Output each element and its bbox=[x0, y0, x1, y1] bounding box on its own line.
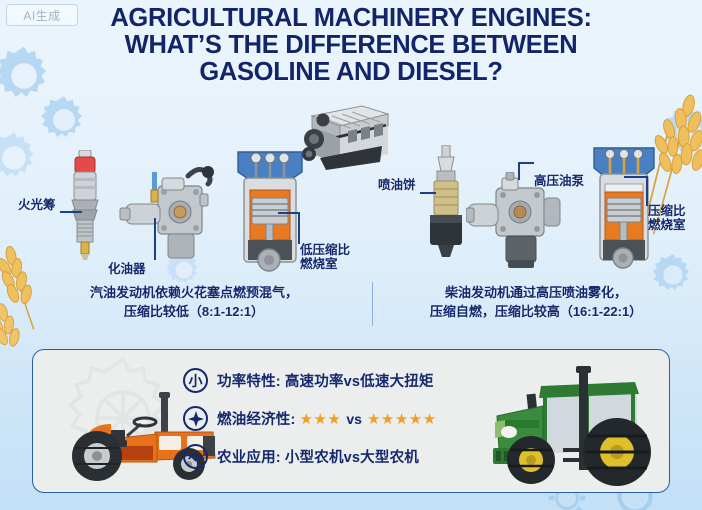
leader-line bbox=[154, 218, 156, 260]
leader-line bbox=[646, 176, 648, 206]
engine-block-illustration bbox=[292, 96, 404, 174]
callout-carburetor: 化油器 bbox=[108, 262, 146, 276]
fuel-injector-illustration bbox=[424, 145, 468, 265]
gasoline-description: 汽油发动机依赖火花塞点燃预混气， 压缩比较低（8:1-12:1） bbox=[24, 283, 364, 321]
carburetor-illustration bbox=[118, 160, 222, 270]
row-value-application: 小型农机vs大型农机 bbox=[285, 446, 419, 467]
callout-injector: 喷油饼 bbox=[378, 178, 416, 192]
diesel-description-line2: 压缩自燃，压缩比较高（16:1-22:1） bbox=[378, 302, 694, 321]
gear-icon bbox=[660, 104, 702, 162]
gear-icon bbox=[38, 94, 90, 146]
stars-diesel: ★★★★★ bbox=[367, 410, 437, 428]
callout-high-pressure-pump: 高压油泵 bbox=[534, 174, 584, 188]
row-value-power: 高速功率vs低速大扭矩 bbox=[285, 370, 434, 391]
callout-spark-plug: 火光筹 bbox=[18, 198, 56, 212]
spark-burst-icon-glyph bbox=[188, 411, 204, 427]
leader-line bbox=[420, 192, 436, 194]
comparison-rows: 小 功率特性: 高速功率vs低速大扭矩 燃油经济性: ★★★ vs ★★★★★ bbox=[183, 363, 543, 477]
row-label-fuel-economy: 燃油经济性: bbox=[217, 408, 296, 429]
title-line-1: AGRICULTURAL MACHINERY ENGINES: bbox=[0, 5, 702, 32]
comparison-row-power: 小 功率特性: 高速功率vs低速大扭矩 bbox=[183, 363, 543, 398]
callout-compression-chamber-line2: 燃烧室 bbox=[648, 218, 686, 232]
leader-line bbox=[298, 212, 300, 244]
spark-plug-illustration bbox=[62, 150, 108, 267]
comparison-row-fuel-economy: 燃油经济性: ★★★ vs ★★★★★ bbox=[183, 401, 543, 436]
callout-compression-chamber: 压缩比 燃烧室 bbox=[648, 204, 702, 232]
comparison-row-application: 农业应用: 小型农机vs大型农机 bbox=[183, 439, 543, 474]
diamond-link-icon bbox=[183, 444, 208, 469]
gasoline-description-line2: 压缩比较低（8:1-12:1） bbox=[24, 302, 364, 321]
callout-low-compression-chamber-line2: 燃烧室 bbox=[300, 257, 338, 271]
title-line-3: GASOLINE AND DIESEL? bbox=[0, 59, 702, 86]
row-label-application: 农业应用: bbox=[217, 446, 281, 467]
vs-label: vs bbox=[346, 411, 362, 427]
spark-burst-icon bbox=[183, 406, 208, 431]
leader-line bbox=[60, 211, 82, 213]
stars-gasoline: ★★★ bbox=[300, 410, 342, 428]
callout-compression-chamber-line1: 压缩比 bbox=[648, 204, 686, 218]
leader-line bbox=[278, 212, 300, 214]
leader-line bbox=[518, 162, 534, 164]
row-label-power: 功率特性: bbox=[217, 370, 281, 391]
page-title: AGRICULTURAL MACHINERY ENGINES: WHAT’S T… bbox=[0, 5, 702, 86]
leader-line bbox=[518, 162, 520, 180]
diamond-link-icon-glyph bbox=[187, 450, 204, 464]
small-char-icon-glyph: 小 bbox=[189, 374, 203, 388]
small-char-icon: 小 bbox=[183, 368, 208, 393]
gasoline-description-line1: 汽油发动机依赖火花塞点燃预混气， bbox=[24, 283, 364, 302]
diesel-description-line1: 柴油发动机通过高压喷油雾化， bbox=[378, 283, 694, 302]
diesel-description: 柴油发动机通过高压喷油雾化， 压缩自燃，压缩比较高（16:1-22:1） bbox=[378, 283, 694, 321]
description-divider bbox=[372, 282, 373, 326]
title-line-2: WHAT’S THE DIFFERENCE BETWEEN bbox=[0, 32, 702, 59]
callout-low-compression-chamber-line1: 低压缩比 bbox=[300, 243, 350, 257]
gear-icon bbox=[0, 130, 42, 186]
callout-low-compression-chamber: 低压缩比 燃烧室 bbox=[300, 243, 362, 271]
comparison-panel: 小 功率特性: 高速功率vs低速大扭矩 燃油经济性: ★★★ vs ★★★★★ bbox=[32, 349, 670, 493]
leader-line bbox=[624, 176, 648, 178]
